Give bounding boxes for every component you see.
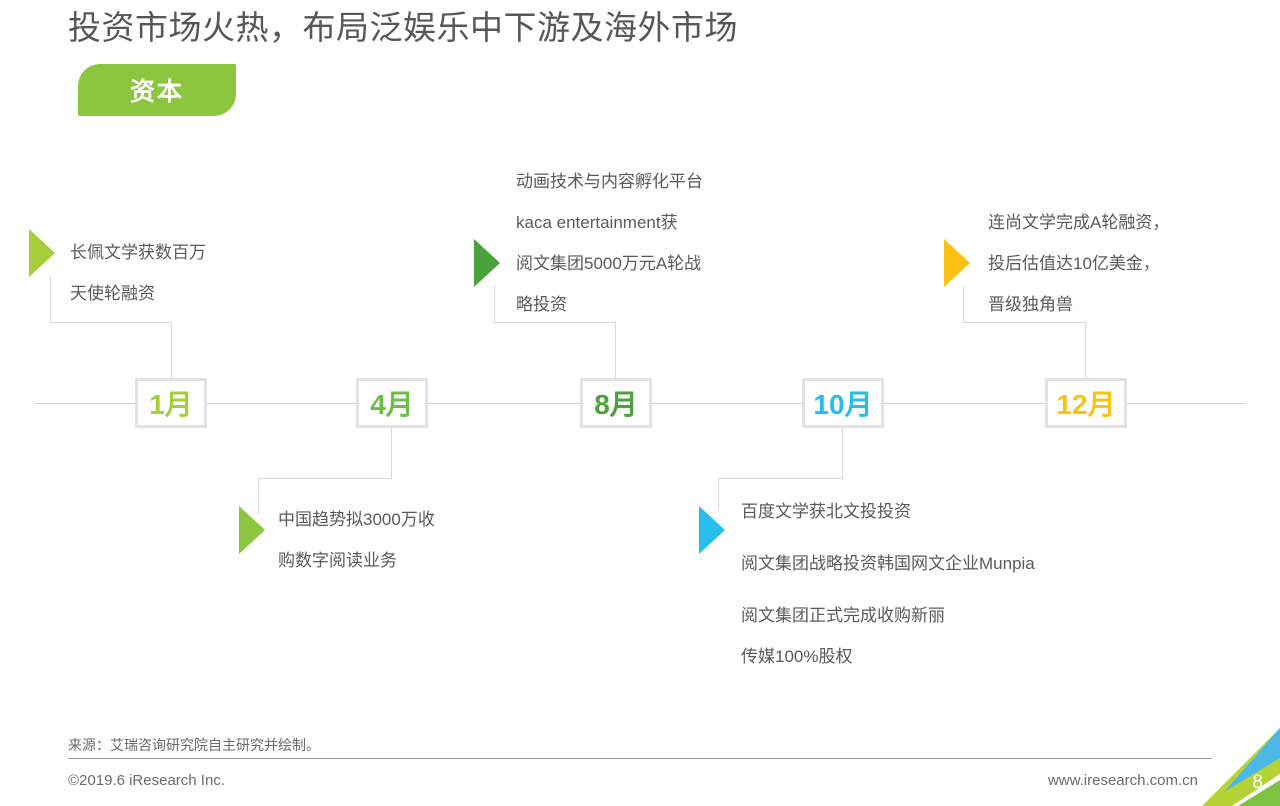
- connector-apr-horizontal: [258, 478, 392, 479]
- section-badge-label: 资本: [130, 72, 184, 108]
- event-paragraph-gap: [741, 584, 1035, 595]
- event-marker-jan-triangle-icon: [29, 229, 55, 277]
- connector-jan-horizontal: [50, 322, 172, 323]
- event-line: 购数字阅读业务: [278, 540, 435, 581]
- event-line: 长佩文学获数百万: [70, 232, 206, 273]
- corner-triangles-icon: [1202, 728, 1280, 806]
- event-line: 天使轮融资: [70, 273, 206, 314]
- timeline-month-8[interactable]: 8月: [580, 378, 652, 428]
- event-line: 投后估值达10亿美金，: [988, 243, 1169, 284]
- corner-decoration: [1202, 728, 1280, 806]
- slide-canvas: 投资市场火热，布局泛娱乐中下游及海外市场 资本 1月 4月 8月 10月 12月…: [0, 0, 1280, 806]
- event-marker-dec-triangle-icon: [944, 239, 970, 287]
- connector-jan-vertical-upper: [50, 276, 51, 322]
- event-paragraph-gap: [741, 532, 1035, 543]
- event-line: 阅文集团战略投资韩国网文企业Munpia: [741, 543, 1035, 584]
- website-link[interactable]: www.iresearch.com.cn: [1048, 772, 1198, 789]
- page-title: 投资市场火热，布局泛娱乐中下游及海外市场: [68, 6, 738, 50]
- event-line: 传媒100%股权: [741, 636, 1035, 677]
- connector-dec-vertical-lower: [1085, 322, 1086, 378]
- event-text-dec: 连尚文学完成A轮融资， 投后估值达10亿美金， 晋级独角兽: [988, 202, 1169, 325]
- timeline-month-8-label: 8月: [594, 383, 638, 423]
- event-line: 略投资: [516, 284, 703, 325]
- event-line: 阅文集团5000万元A轮战: [516, 243, 703, 284]
- event-marker-aug-triangle-icon: [474, 239, 500, 287]
- connector-jan-vertical-lower: [171, 322, 172, 378]
- event-line: 百度文学获北文投投资: [741, 491, 1035, 532]
- timeline-month-4-label: 4月: [370, 383, 414, 423]
- event-line: 晋级独角兽: [988, 284, 1169, 325]
- event-line: 阅文集团正式完成收购新丽: [741, 595, 1035, 636]
- timeline-month-12-label: 12月: [1056, 383, 1115, 423]
- event-line: 连尚文学完成A轮融资，: [988, 202, 1169, 243]
- event-text-jan: 长佩文学获数百万 天使轮融资: [70, 232, 206, 314]
- event-line: 动画技术与内容孵化平台: [516, 161, 703, 202]
- page-number: 8: [1252, 772, 1263, 794]
- copyright-text: ©2019.6 iResearch Inc.: [68, 772, 225, 789]
- connector-aug-vertical-upper: [494, 286, 495, 322]
- timeline-month-1-label: 1月: [149, 383, 193, 423]
- footer-divider: [68, 758, 1212, 759]
- connector-oct-vertical-upper: [842, 428, 843, 478]
- timeline-month-12[interactable]: 12月: [1045, 378, 1127, 428]
- timeline-month-4[interactable]: 4月: [356, 378, 428, 428]
- connector-oct-horizontal: [718, 478, 843, 479]
- event-marker-oct-triangle-icon: [699, 506, 725, 554]
- event-marker-apr-triangle-icon: [239, 506, 265, 554]
- event-text-aug: 动画技术与内容孵化平台 kaca entertainment获 阅文集团5000…: [516, 161, 703, 325]
- source-note: 来源：艾瑞咨询研究院自主研究并绘制。: [68, 735, 320, 755]
- section-badge: 资本: [78, 64, 236, 116]
- event-line: 中国趋势拟3000万收: [278, 499, 435, 540]
- connector-dec-vertical-upper: [963, 286, 964, 322]
- event-text-apr: 中国趋势拟3000万收 购数字阅读业务: [278, 499, 435, 581]
- timeline-month-10[interactable]: 10月: [802, 378, 884, 428]
- connector-apr-vertical-upper: [391, 428, 392, 478]
- event-text-oct: 百度文学获北文投投资 阅文集团战略投资韩国网文企业Munpia 阅文集团正式完成…: [741, 491, 1035, 677]
- connector-aug-vertical-lower: [615, 322, 616, 378]
- timeline-month-1[interactable]: 1月: [135, 378, 207, 428]
- timeline-month-10-label: 10月: [813, 383, 872, 423]
- event-line: kaca entertainment获: [516, 202, 703, 243]
